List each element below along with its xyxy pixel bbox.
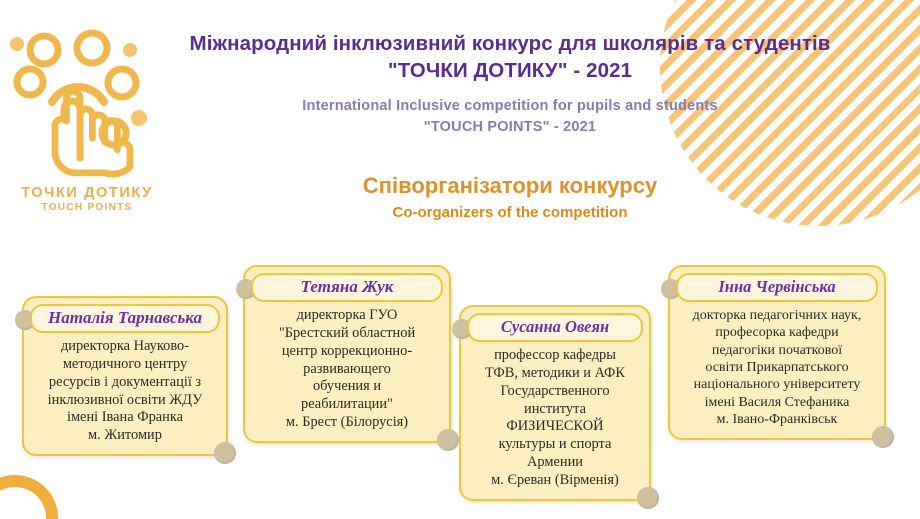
slide-canvas: ТОЧКИ ДОТИКУ TOUCH POINTS Міжнародний ін… [0, 0, 920, 519]
card-corner-decoration [872, 426, 894, 448]
description-line: обучения и [255, 378, 439, 396]
main-title: Міжнародний інклюзивний конкурс для школ… [150, 30, 870, 84]
organizer-card: Сусанна Овеян профессор кафедры ТФВ, мет… [459, 305, 651, 501]
description-line: "Брестский областной [255, 325, 439, 343]
organizer-name-banner: Тетяна Жук [251, 273, 443, 302]
description-line: ТФВ, методики и АФК [471, 365, 639, 383]
subtitle-en-line2: "TOUCH POINTS" - 2021 [150, 117, 870, 138]
description-line: імені Івана Франка [34, 409, 216, 427]
organizer-name: Інна Червінська [718, 277, 835, 296]
title-uk-line2: "ТОЧКИ ДОТИКУ" - 2021 [150, 57, 870, 84]
description-line: м. Житомир [34, 427, 216, 445]
description-line: центр коррекционно- [255, 343, 439, 361]
logo-wordmark: ТОЧКИ ДОТИКУ TOUCH POINTS [4, 186, 170, 214]
organizer-name: Тетяна Жук [301, 277, 394, 296]
logo-title-uk: ТОЧКИ ДОТИКУ [4, 186, 170, 201]
organizer-card: Наталія Тарнавська директорка Науково- м… [22, 296, 228, 456]
description-line: докторка педагогічних наук, [680, 307, 874, 324]
description-line: развивающего [255, 361, 439, 379]
organizer-name-banner: Інна Червінська [676, 273, 878, 302]
card-corner-decoration [214, 442, 236, 464]
main-subtitle: International Inclusive competition for … [150, 96, 870, 138]
description-line: Государственного [471, 383, 639, 401]
logo: ТОЧКИ ДОТИКУ TOUCH POINTS [4, 8, 170, 220]
description-line: інклюзивної освіти ЖДУ [34, 392, 216, 410]
organizer-name: Наталія Тарнавська [48, 308, 202, 327]
description-line: Армении [471, 454, 639, 472]
description-line: освіти Прикарпатського [680, 359, 874, 376]
organizer-name-banner: Сусанна Овеян [467, 313, 643, 342]
card-corner-decoration [637, 487, 659, 509]
organizer-card: Інна Червінська докторка педагогічних на… [668, 265, 886, 440]
description-line: директорка Науково- [34, 338, 216, 356]
description-line: методичного центру [34, 356, 216, 374]
corner-ring-decoration [0, 475, 58, 519]
description-line: ресурсів і документації з [34, 374, 216, 392]
description-line: імені Василя Стефаника [680, 394, 874, 411]
organizer-description: докторка педагогічних наук, професорка к… [678, 306, 876, 429]
organizer-card: Тетяна Жук директорка ГУО "Брестский обл… [243, 265, 451, 443]
description-line: національного університету [680, 376, 874, 393]
description-line: культуры и спорта [471, 436, 639, 454]
logo-title-en: TOUCH POINTS [4, 203, 170, 214]
description-line: м. Брест (Білорусія) [255, 414, 439, 432]
subtitle-en-line1: International Inclusive competition for … [150, 96, 870, 117]
hand-pointing-finger-icon [4, 8, 170, 188]
section-heading-uk: Співорганізатори конкурсу [150, 172, 870, 201]
organizer-description: профессор кафедры ТФВ, методики и АФК Го… [469, 346, 641, 490]
card-corner-decoration [437, 429, 459, 451]
description-line: ФИЗИЧЕСКОЙ [471, 418, 639, 436]
description-line: м. Івано-Франківськ [680, 411, 874, 428]
organizer-name-banner: Наталія Тарнавська [30, 304, 220, 333]
description-line: реабилитации" [255, 396, 439, 414]
organizer-name: Сусанна Овеян [501, 317, 609, 336]
description-line: м. Єреван (Вірменія) [471, 472, 639, 490]
organizer-description: директорка Науково- методичного центру р… [32, 337, 218, 445]
description-line: профессор кафедры [471, 347, 639, 365]
description-line: професорка кафедри [680, 324, 874, 341]
description-line: директорка ГУО [255, 307, 439, 325]
description-line: педагогіки початкової [680, 342, 874, 359]
title-uk-line1: Міжнародний інклюзивний конкурс для школ… [150, 30, 870, 57]
organizer-description: директорка ГУО "Брестский областной цент… [253, 306, 441, 432]
section-heading-en: Co-organizers of the competition [150, 202, 870, 223]
description-line: института [471, 401, 639, 419]
section-heading: Співорганізатори конкурсу Co-organizers … [150, 172, 870, 223]
